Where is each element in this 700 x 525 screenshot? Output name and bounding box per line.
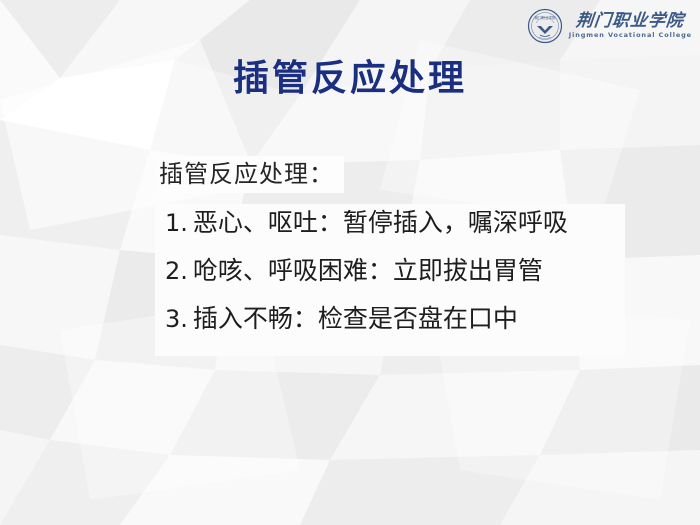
list-item-number: 1.: [165, 211, 188, 235]
list-item: 2. 呛咳、呼吸困难：立即拔出胃管: [155, 258, 625, 306]
college-name-cn: 荆门职业学院: [575, 13, 685, 30]
list-item-text: 恶心、呕吐：暂停插入，嘱深呼吸: [193, 210, 568, 235]
list-item: 3. 插入不畅：检查是否盘在口中: [155, 306, 625, 354]
content-lead-text: 插管反应处理：: [155, 156, 344, 193]
presentation-slide: 荆门职业学院 荆门职业学院 Jingmen Vocational College…: [0, 0, 700, 525]
college-logo: 荆门职业学院 荆门职业学院 Jingmen Vocational College: [527, 4, 692, 48]
svg-text:荆门职业学院: 荆门职业学院: [534, 15, 555, 20]
list-item-number: 3.: [165, 307, 188, 331]
college-name-en: Jingmen Vocational College: [569, 32, 692, 39]
list-item: 1. 恶心、呕吐：暂停插入，嘱深呼吸: [155, 210, 625, 258]
list-item-text: 插入不畅：检查是否盘在口中: [193, 306, 518, 331]
list-item-text: 呛咳、呼吸困难：立即拔出胃管: [193, 258, 543, 283]
list-item-number: 2.: [165, 259, 188, 283]
content-list: 1. 恶心、呕吐：暂停插入，嘱深呼吸 2. 呛咳、呼吸困难：立即拔出胃管 3. …: [155, 204, 625, 356]
slide-title: 插管反应处理: [0, 58, 700, 99]
college-emblem-icon: 荆门职业学院: [527, 8, 563, 44]
